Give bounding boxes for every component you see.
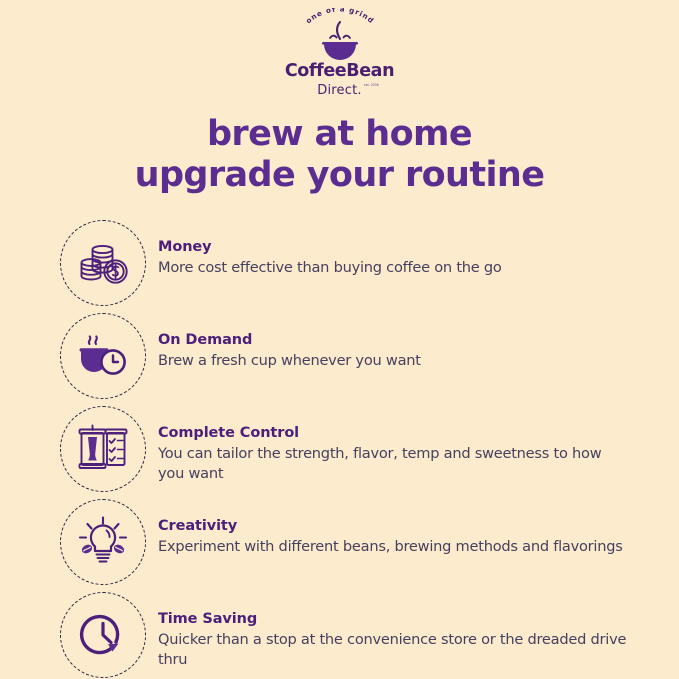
coins-money-icon [60, 220, 146, 306]
feature-description: Brew a fresh cup whenever you want [158, 351, 628, 371]
page-title: brew at home upgrade your routine [0, 114, 679, 197]
headline-line-2: upgrade your routine [0, 155, 679, 196]
feature-text-block: Creativity Experiment with different bea… [146, 499, 655, 557]
coffee-cup-logo-icon: one of a grind [280, 8, 400, 62]
headline-line-1: brew at home [0, 114, 679, 155]
list-item: Money More cost effective than buying co… [60, 220, 655, 306]
french-press-checklist-icon [60, 406, 146, 492]
lightbulb-beans-icon [60, 499, 146, 585]
feature-text-block: Time Saving Quicker than a stop at the c… [146, 592, 655, 669]
brand-wordmark: CoffeeBean Direct. est. 2006 [285, 63, 394, 98]
clock-arrow-icon [60, 592, 146, 678]
list-item: Creativity Experiment with different bea… [60, 499, 655, 585]
brand-name-direct: Direct. [317, 83, 361, 98]
feature-title: Money [158, 239, 655, 256]
feature-description: More cost effective than buying coffee o… [158, 258, 628, 278]
feature-title: Time Saving [158, 611, 655, 628]
brand-trademark: est. 2006 [364, 84, 379, 87]
coffee-cup-clock-icon [60, 313, 146, 399]
brand-name-coffee: Coffee [285, 63, 346, 81]
brand-name-bean: Bean [346, 63, 394, 81]
feature-list: Money More cost effective than buying co… [0, 220, 679, 678]
feature-title: Complete Control [158, 425, 655, 442]
feature-description: Quicker than a stop at the convenience s… [158, 630, 628, 670]
feature-text-block: Money More cost effective than buying co… [146, 220, 655, 278]
feature-description: You can tailor the strength, flavor, tem… [158, 444, 628, 484]
list-item: On Demand Brew a fresh cup whenever you … [60, 313, 655, 399]
feature-text-block: On Demand Brew a fresh cup whenever you … [146, 313, 655, 371]
feature-text-block: Complete Control You can tailor the stre… [146, 406, 655, 483]
feature-description: Experiment with different beans, brewing… [158, 537, 628, 557]
list-item: Complete Control You can tailor the stre… [60, 406, 655, 492]
brand-logo: one of a grind CoffeeBean Direct. est. 2… [0, 0, 679, 98]
feature-title: On Demand [158, 332, 655, 349]
feature-title: Creativity [158, 518, 655, 535]
list-item: Time Saving Quicker than a stop at the c… [60, 592, 655, 678]
